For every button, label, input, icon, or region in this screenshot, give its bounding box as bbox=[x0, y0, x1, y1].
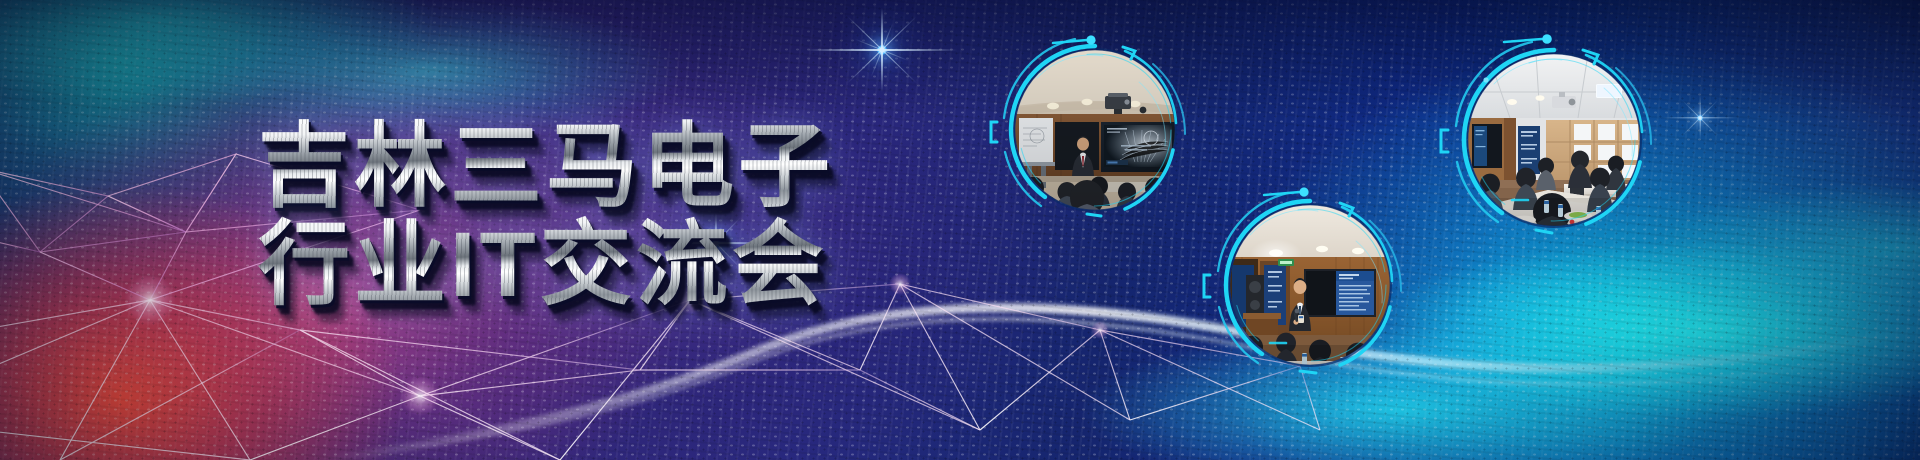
photo-medallion-speaker-mic[interactable] bbox=[1190, 165, 1430, 405]
photo-medallion-meeting-room[interactable] bbox=[1428, 14, 1680, 266]
banner-root: 吉林三马电子 行业IT交流会 bbox=[0, 0, 1920, 460]
medallion-photo bbox=[1212, 205, 1390, 387]
title-line-1: 吉林三马电子 bbox=[258, 116, 878, 220]
banner-title: 吉林三马电子 行业IT交流会 bbox=[258, 116, 878, 318]
photo-medallion-lecture-hall[interactable] bbox=[975, 10, 1215, 250]
title-line-2: 行业IT交流会 bbox=[258, 214, 878, 318]
